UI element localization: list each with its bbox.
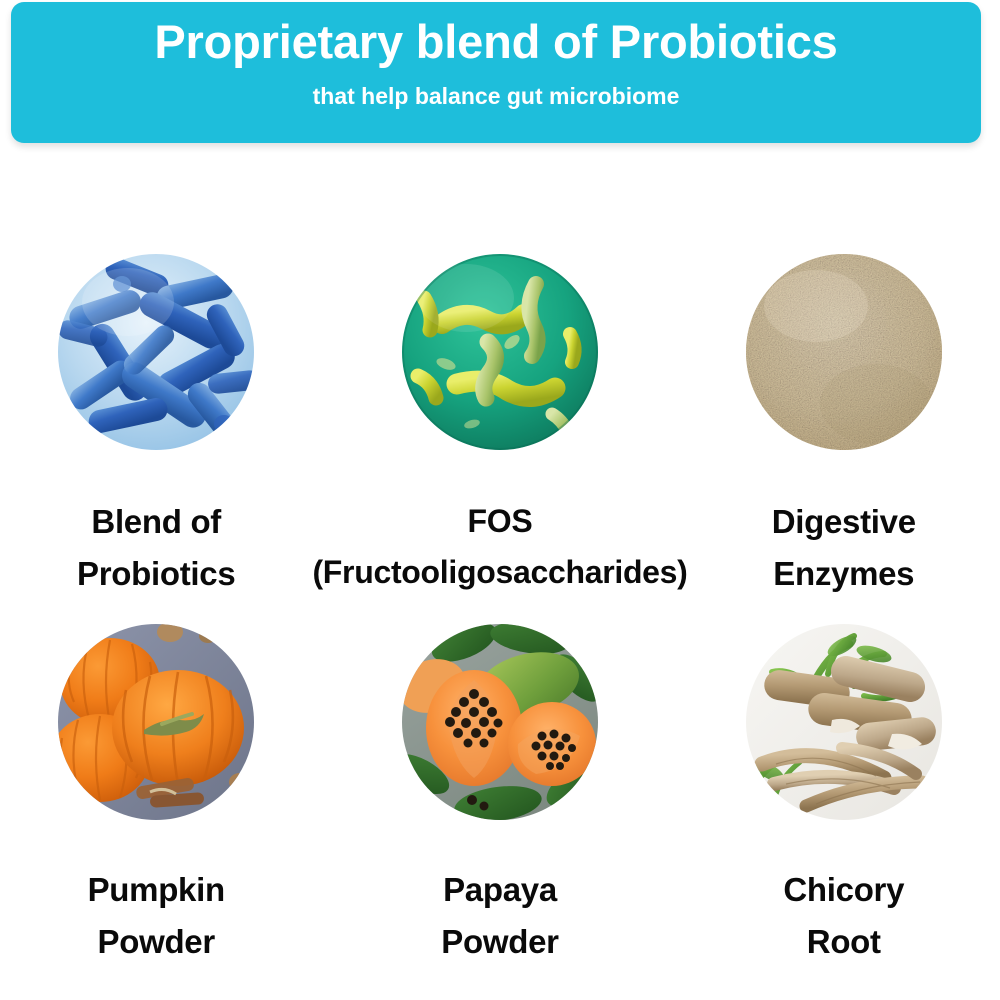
papaya-photo (402, 624, 598, 820)
chicory-root-photo (746, 624, 942, 820)
ingredient-label: FOS (Fructooligosaccharides) (312, 496, 687, 597)
page-title: Proprietary blend of Probiotics (154, 14, 837, 69)
ingredient-label: Chicory Root (783, 864, 904, 968)
ingredient-label: Blend of Probiotics (77, 496, 235, 600)
page-subtitle: that help balance gut microbiome (313, 83, 680, 110)
ingredient-card-digestive-enzymes: Digestive Enzymes (688, 240, 1000, 610)
ingredient-card-fos: FOS (Fructooligosaccharides) (312, 240, 687, 610)
ingredient-card-pumpkin-powder: Pumpkin Powder (0, 610, 312, 980)
ingredient-label: Digestive Enzymes (772, 496, 916, 600)
ingredient-card-chicory-root: Chicory Root (688, 610, 1000, 980)
header-banner: Proprietary blend of Probiotics that hel… (11, 2, 981, 143)
ingredient-label: Papaya Powder (441, 864, 558, 968)
enzyme-granules-photo (746, 254, 942, 450)
fos-microscopy-illustration (402, 254, 598, 450)
ingredient-card-blend-of-probiotics: Blend of Probiotics (0, 240, 312, 610)
ingredient-label: Pumpkin Powder (88, 864, 225, 968)
ingredient-infographic: Proprietary blend of Probiotics that hel… (0, 0, 1000, 1000)
ingredient-grid: Blend of Probiotics (0, 240, 1000, 980)
pumpkins-photo (58, 624, 254, 820)
probiotic-bacteria-photo (58, 254, 254, 450)
ingredient-card-papaya-powder: Papaya Powder (312, 610, 687, 980)
